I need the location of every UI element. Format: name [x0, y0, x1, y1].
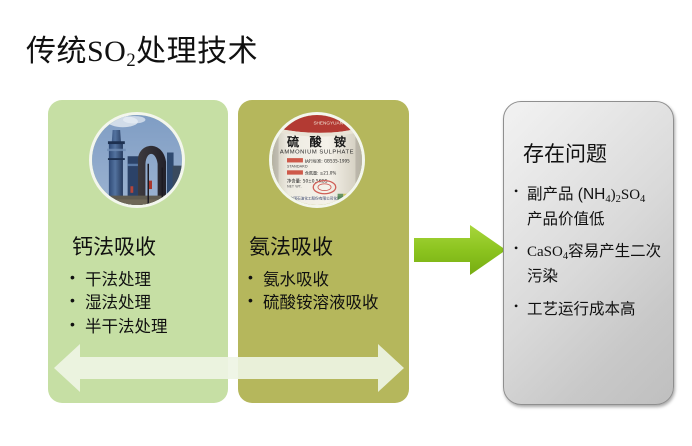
title-suffix: 处理技术: [136, 35, 258, 68]
svg-text:铵: 铵: [334, 134, 346, 149]
svg-text:执行标准: GB535-1995: 执行标准: GB535-1995: [305, 157, 350, 163]
byproduct-pre: 副产品 (NH: [527, 186, 605, 203]
ammonium-sulfate-bag-photo: SHENGYUAN 硫 酸 铵 AMMONIUM SULPHATE 执行标准: …: [269, 112, 365, 208]
svg-text:SHENGYUAN: SHENGYUAN: [313, 120, 343, 125]
byproduct-sub-3: 4: [640, 194, 645, 205]
svg-text:AMMONIUM SULPHATE: AMMONIUM SULPHATE: [280, 149, 354, 155]
list-item: 氨水吸收: [246, 269, 386, 291]
page-title: 传统SO2处理技术: [26, 26, 258, 72]
byproduct-post: 产品价值低: [527, 211, 605, 228]
bullet-list-calcium: 干法处理 湿法处理 半干法处理: [68, 269, 218, 339]
list-item: 湿法处理: [68, 292, 218, 314]
cost-text: 工艺运行成本高: [527, 301, 636, 318]
white-double-arrow: [54, 340, 404, 396]
svg-text:硫: 硫: [287, 134, 299, 149]
list-item: 干法处理: [68, 269, 218, 291]
list-item-caso4: CaSO4容易产生二次污染: [514, 240, 669, 288]
panel-heading-ammonia: 氨法吸收: [249, 231, 333, 261]
title-prefix: 传统SO: [26, 35, 126, 68]
svg-text:酸: 酸: [310, 134, 323, 149]
list-item: 硫酸铵溶液吸收: [246, 292, 386, 314]
panel-heading-problems: 存在问题: [523, 138, 607, 168]
svg-text:中国石油化工股份有限公司化肥厂: 中国石油化工股份有限公司化肥厂: [290, 195, 345, 200]
caso4-pre: CaSO: [527, 244, 563, 260]
bullet-list-problems: 副产品 (NH4)2SO4产品价值低 CaSO4容易产生二次污染 工艺运行成本高: [514, 183, 669, 330]
green-right-arrow: [414, 222, 506, 278]
svg-text:含氮量: ≥21.0%: 含氮量: ≥21.0%: [305, 169, 337, 175]
byproduct-mid-2: SO: [621, 187, 640, 203]
list-item-byproduct: 副产品 (NH4)2SO4产品价值低: [514, 183, 669, 231]
title-subscript: 2: [126, 50, 136, 71]
svg-text:STANDARD: STANDARD: [287, 165, 308, 169]
svg-text:NET WT.: NET WT.: [287, 185, 302, 189]
list-item-cost: 工艺运行成本高: [514, 298, 669, 322]
panel-heading-calcium: 钙法吸收: [72, 231, 156, 261]
slide-canvas: 传统SO2处理技术: [0, 0, 692, 446]
desulfurization-plant-photo: [89, 112, 185, 208]
list-item: 半干法处理: [68, 316, 218, 338]
bullet-list-ammonia: 氨水吸收 硫酸铵溶液吸收: [246, 269, 386, 316]
